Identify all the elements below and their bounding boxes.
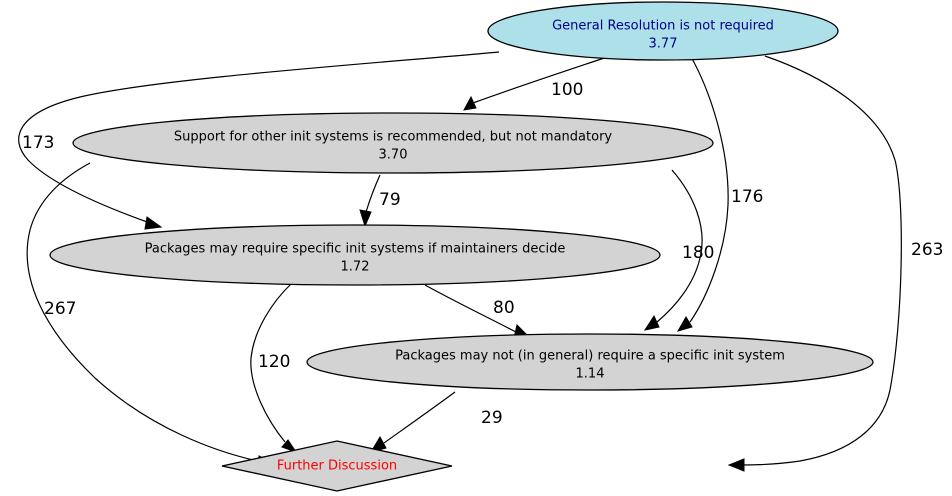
- edge-path: [366, 175, 380, 212]
- edge-path: [384, 392, 455, 443]
- node-title: Further Discussion: [277, 459, 397, 474]
- node-title: Packages may not (in general) require a …: [395, 349, 785, 364]
- node-score: 1.14: [576, 367, 605, 382]
- arrow-head: [729, 459, 744, 471]
- edge-path: [690, 55, 728, 322]
- edge-label-80: 80: [493, 298, 515, 318]
- edge-label-267: 267: [44, 299, 76, 319]
- node-packages-may-not-require[interactable]: Packages may not (in general) require a …: [307, 334, 873, 390]
- edge-label-180: 180: [682, 243, 714, 263]
- edge-label-100: 100: [551, 80, 583, 100]
- edge-label-79: 79: [379, 190, 401, 210]
- node-further-discussion[interactable]: Further Discussion: [222, 441, 452, 491]
- node-score: 3.70: [379, 148, 408, 163]
- graph-svg: 173 100 79 176 180 263 267 80 120 29 Gen…: [0, 0, 952, 496]
- edge-gr-to-notreq: [678, 55, 728, 331]
- edge-label-173: 173: [22, 133, 54, 153]
- edge-req-to-notreq: [425, 285, 531, 339]
- edge-label-120: 120: [258, 352, 290, 372]
- node-title: Support for other init systems is recomm…: [174, 130, 613, 145]
- arrow-head: [464, 97, 476, 110]
- edge-gr-to-support: [464, 52, 622, 110]
- diagram-canvas: 173 100 79 176 180 263 267 80 120 29 Gen…: [0, 0, 952, 496]
- edge-sup-to-require: [360, 175, 380, 226]
- arrow-head: [145, 217, 161, 229]
- edge-label-263: 263: [911, 240, 943, 260]
- arrow-head: [678, 317, 692, 331]
- edge-path: [742, 56, 901, 465]
- arrow-head: [645, 316, 659, 330]
- edge-label-29: 29: [481, 408, 503, 428]
- edge-label-176: 176: [731, 187, 763, 207]
- node-score: 3.77: [649, 37, 678, 52]
- node-general-resolution[interactable]: General Resolution is not required 3.77: [488, 2, 838, 60]
- node-packages-may-require[interactable]: Packages may require specific init syste…: [50, 225, 660, 285]
- node-title: Packages may require specific init syste…: [145, 242, 566, 257]
- edge-path: [473, 52, 622, 103]
- edge-notreq-to-fd: [371, 392, 455, 452]
- node-score: 1.72: [341, 260, 370, 275]
- arrow-head: [360, 210, 371, 226]
- edge-gr-to-fd: [729, 56, 901, 471]
- node-title: General Resolution is not required: [552, 19, 774, 34]
- node-support-other-init[interactable]: Support for other init systems is recomm…: [73, 113, 713, 173]
